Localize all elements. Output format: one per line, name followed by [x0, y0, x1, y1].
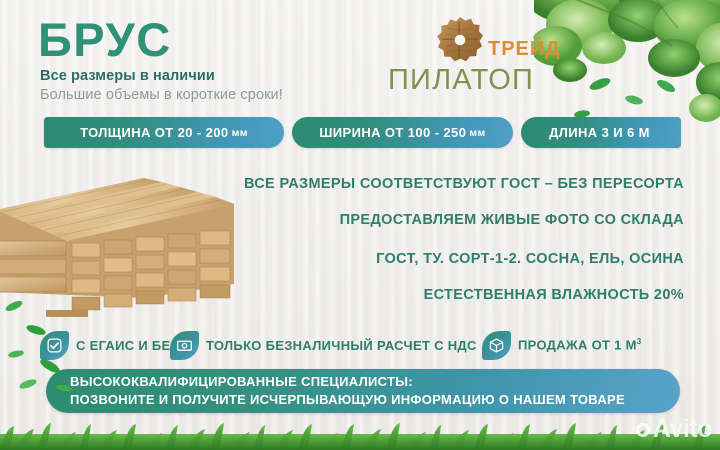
spec-pill-thickness: ТОЛЩИНА ОТ 20 - 200 мм: [44, 117, 284, 148]
badge-min-volume: ПРОДАЖА ОТ 1 М3: [482, 328, 641, 362]
cta-banner: ВЫСОКОКВАЛИФИЦИРОВАННЫЕ СПЕЦИАЛИСТЫ: ПОЗ…: [46, 369, 680, 413]
banknote-icon: [170, 331, 199, 360]
saw-blade-wood-icon: [436, 16, 484, 64]
spec-pill-length: ДЛИНА 3 И 6 М: [521, 117, 681, 148]
subtitle-secondary: Большие объемы в короткие сроки!: [40, 87, 283, 103]
feature-line-photos: ПРЕДОСТАВЛЯЕМ ЖИВЫЕ ФОТО СО СКЛАДА: [340, 212, 684, 228]
avito-dot-icon: [636, 423, 650, 437]
grass-decoration: [0, 410, 720, 450]
badge-cashless: ТОЛЬКО БЕЗНАЛИЧНЫЙ РАСЧЕТ С НДС: [170, 328, 477, 362]
spec-pill-label: ТОЛЩИНА ОТ 20 - 200: [80, 125, 228, 140]
cta-banner-line1: ВЫСОКОКВАЛИФИЦИРОВАННЫЕ СПЕЦИАЛИСТЫ:: [70, 373, 680, 391]
cta-banner-line2: ПОЗВОНИТЕ И ПОЛУЧИТЕ ИСЧЕРПЫВАЮЩУЮ ИНФОР…: [70, 391, 680, 409]
spec-pill-unit: мм: [469, 127, 485, 139]
page-title: БРУС: [38, 16, 172, 63]
badge-row: С ЕГАИС И БЕЗ ТОЛЬКО БЕЗНАЛИЧНЫЙ РАСЧЕТ …: [40, 328, 686, 362]
feature-line-grade: ГОСТ, ТУ. СОРТ-1-2. СОСНА, ЕЛЬ, ОСИНА: [376, 251, 684, 267]
brand-logo: ТРЕЙД ПИЛАТОП: [388, 14, 568, 102]
badge-egais: С ЕГАИС И БЕЗ: [40, 328, 179, 362]
feature-line-gost: ВСЕ РАЗМЕРЫ СООТВЕТСТВУЮТ ГОСТ – БЕЗ ПЕР…: [244, 176, 684, 192]
logo-trade-word: ТРЕЙД: [488, 38, 561, 61]
badge-label-text: ПРОДАЖА ОТ 1 М: [518, 338, 637, 353]
badge-label: ТОЛЬКО БЕЗНАЛИЧНЫЙ РАСЧЕТ С НДС: [206, 338, 477, 353]
feature-line-moisture: ЕСТЕСТВЕННАЯ ВЛАЖНОСТЬ 20%: [424, 287, 684, 303]
spec-pill-label: ШИРИНА ОТ 100 - 250: [319, 125, 466, 140]
badge-label: ПРОДАЖА ОТ 1 М3: [518, 337, 641, 352]
poster-canvas: БРУС Все размеры в наличии Большие объем…: [0, 0, 720, 450]
lumber-stack-photo: [0, 146, 236, 326]
avito-watermark-text: Avito: [653, 415, 712, 444]
avito-watermark: Avito: [636, 415, 712, 444]
subtitle-primary: Все размеры в наличии: [40, 68, 215, 84]
check-shield-icon: [40, 331, 69, 360]
grass-photo: [0, 410, 720, 450]
cube-icon: [482, 331, 511, 360]
logo-brand-name: ПИЛАТОП: [388, 64, 534, 97]
spec-pill-label: ДЛИНА 3 И 6 М: [549, 125, 650, 140]
spec-pill-width: ШИРИНА ОТ 100 - 250 мм: [292, 117, 513, 148]
badge-label: С ЕГАИС И БЕЗ: [76, 338, 179, 353]
badge-label-superscript: 3: [637, 337, 642, 346]
spec-pill-unit: мм: [232, 127, 248, 139]
